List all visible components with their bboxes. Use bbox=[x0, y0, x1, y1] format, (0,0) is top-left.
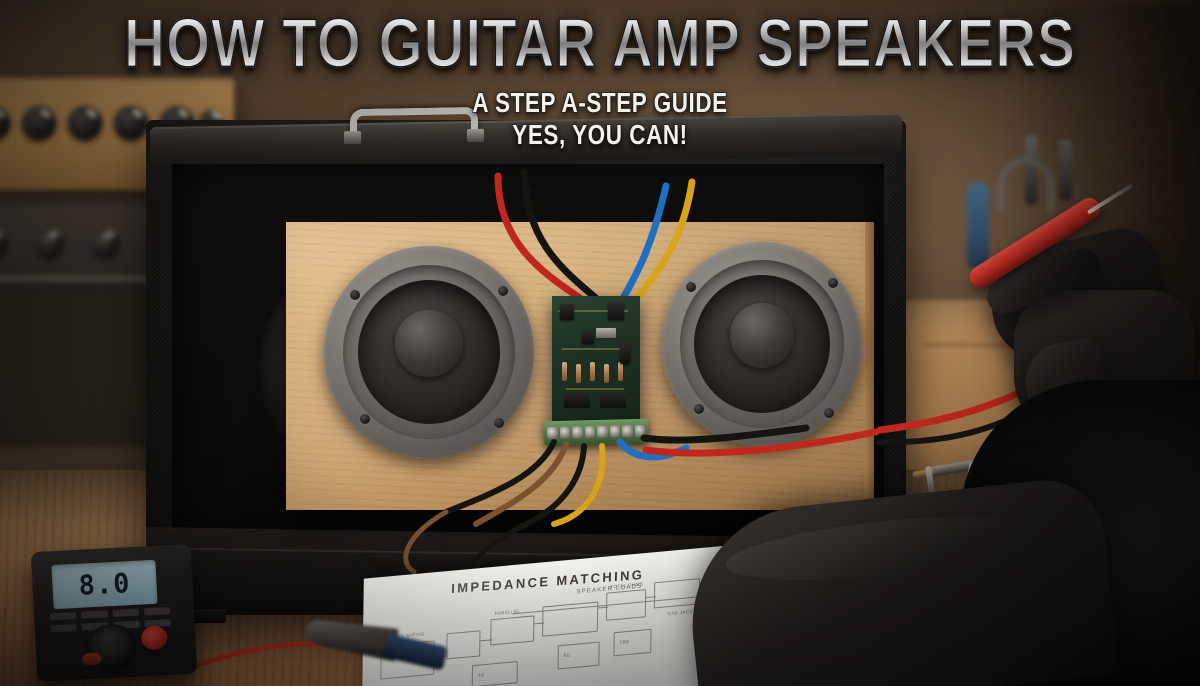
terminal-screw bbox=[547, 427, 558, 439]
multimeter-reading: 8.0 bbox=[78, 570, 131, 600]
terminal-screw bbox=[584, 426, 595, 438]
pcb-resistor bbox=[576, 364, 581, 383]
amp-knob bbox=[0, 230, 8, 260]
terminal-screw bbox=[622, 425, 633, 437]
multimeter-button[interactable] bbox=[50, 612, 77, 620]
cabinet-handle bbox=[350, 107, 478, 135]
mount-screw bbox=[686, 282, 696, 292]
amp-knob bbox=[68, 106, 102, 140]
pcb-resistor bbox=[618, 362, 623, 381]
terminal-screw bbox=[559, 427, 570, 439]
multimeter-display: 8.0 bbox=[51, 560, 157, 609]
terminal-screw bbox=[609, 425, 620, 437]
speaker-driver-left bbox=[324, 246, 534, 458]
speaker-driver-right bbox=[662, 242, 862, 446]
pcb-resistor bbox=[562, 362, 567, 381]
mount-screw bbox=[350, 290, 360, 300]
multimeter-button[interactable] bbox=[144, 607, 171, 615]
cutter-grip bbox=[382, 633, 448, 670]
terminal-screw bbox=[597, 426, 608, 438]
speaker-dust-dome bbox=[730, 303, 794, 368]
amp-knob bbox=[22, 106, 56, 140]
terminal-screw bbox=[634, 425, 645, 437]
pcb-ic bbox=[564, 394, 590, 408]
amp-knob bbox=[0, 106, 10, 140]
mount-screw bbox=[498, 286, 508, 296]
pcb-capacitor bbox=[582, 330, 594, 344]
pcb-capacitor bbox=[560, 304, 574, 320]
pcb-ic bbox=[600, 394, 626, 408]
digital-multimeter[interactable]: 8.0 bbox=[31, 544, 198, 682]
wire-cutters bbox=[306, 618, 456, 670]
amp-knob bbox=[90, 230, 120, 260]
speaker-dust-dome bbox=[395, 310, 462, 378]
multimeter-button[interactable] bbox=[81, 610, 108, 618]
mount-screw bbox=[494, 418, 504, 428]
pcb-resistor bbox=[604, 364, 609, 383]
mount-screw bbox=[694, 404, 704, 414]
pcb-inductor bbox=[596, 328, 616, 338]
amp-knob bbox=[114, 106, 148, 140]
pcb-capacitor bbox=[620, 342, 630, 364]
mount-screw bbox=[360, 414, 370, 424]
multimeter-button[interactable] bbox=[51, 624, 78, 632]
mount-screw bbox=[824, 408, 834, 418]
pcb-trace bbox=[566, 388, 624, 390]
pcb-resistor bbox=[590, 362, 595, 381]
pcb-capacitor bbox=[608, 302, 624, 320]
baffle-edge bbox=[865, 222, 874, 510]
pcb-trace bbox=[562, 348, 624, 350]
amp-knob bbox=[34, 230, 64, 260]
scene-root: 8.0 IMPEDANCE MATCHING SPEAKER LOADS bbox=[0, 0, 1200, 686]
amplifier-pcb bbox=[552, 296, 640, 426]
mount-screw bbox=[828, 278, 838, 288]
terminal-block bbox=[544, 419, 649, 446]
multimeter-power-button[interactable] bbox=[82, 653, 102, 666]
multimeter-button[interactable] bbox=[112, 609, 139, 617]
terminal-screw bbox=[572, 426, 583, 438]
